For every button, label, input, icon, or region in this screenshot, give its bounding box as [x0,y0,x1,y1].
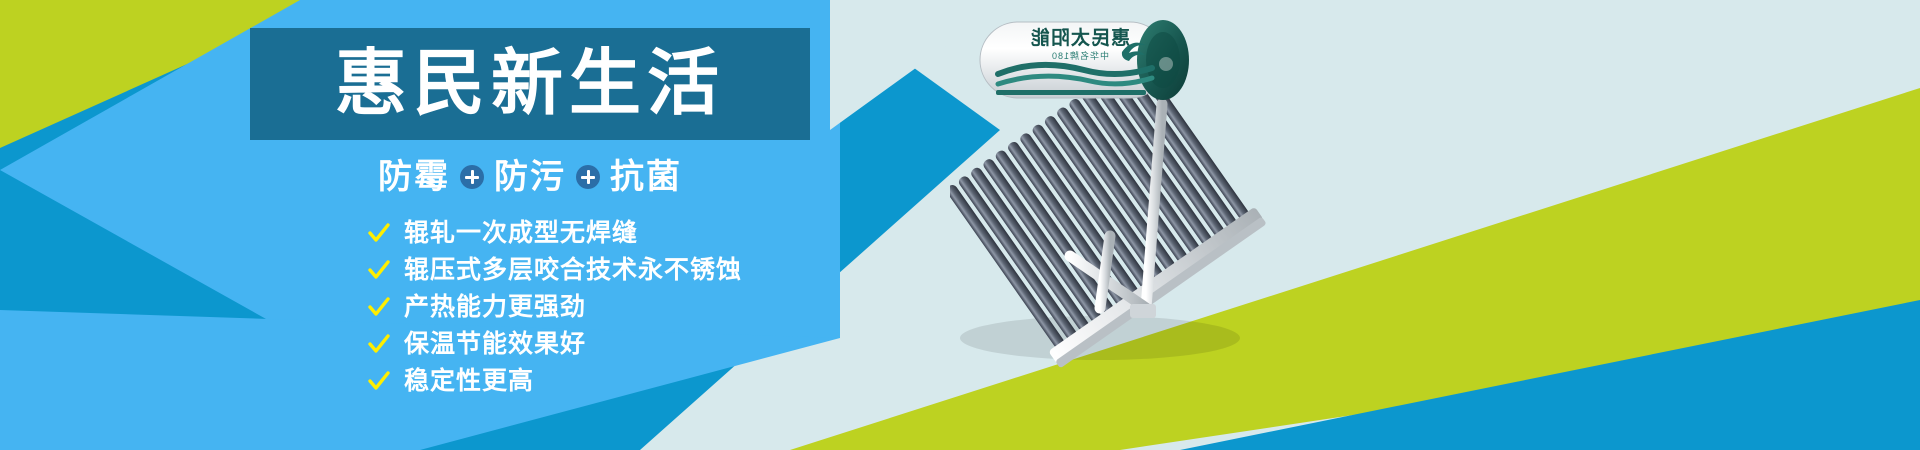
solar-water-heater-image: 惠民太阳能 中华名牌180 [950,8,1280,368]
tank: 惠民太阳能 中华名牌180 [980,20,1189,100]
tank-brand-primary: 惠民太阳能 [1030,26,1130,49]
list-item-label: 稳定性更高 [404,369,534,394]
page-title: 惠民新生活 [335,48,725,120]
list-item-label: 产热能力更强劲 [404,295,586,320]
list-item: 辊轧一次成型无焊缝 [368,218,850,248]
list-item: 保温节能效果好 [368,329,850,359]
promo-banner: 惠民太阳能 中华名牌180 惠民新生活 防霉 防污 抗菌 [0,0,1920,450]
list-item: 稳定性更高 [368,366,850,396]
plus-badge-icon [576,165,600,189]
list-item-label: 辊压式多层咬合技术永不锈蚀 [404,258,742,283]
list-item-label: 辊轧一次成型无焊缝 [404,221,638,246]
check-icon [368,296,390,318]
subtitle-word-2: 防污 [494,160,566,194]
subtitle-row: 防霉 防污 抗菌 [250,156,810,198]
title-bar: 惠民新生活 [250,28,810,140]
plus-badge-icon [460,165,484,189]
check-icon [368,222,390,244]
copy-block: 惠民新生活 防霉 防污 抗菌 辊轧一次成型无焊缝 辊压式多层咬合技术永不锈蚀 [250,28,850,388]
check-icon [368,333,390,355]
subtitle-word-3: 抗菌 [610,160,682,194]
tank-brand-secondary: 中华名牌180 [1051,50,1109,61]
list-item: 产热能力更强劲 [368,292,850,322]
list-item: 辊压式多层咬合技术永不锈蚀 [368,255,850,285]
list-item-label: 保温节能效果好 [404,332,586,357]
frame-foot [1130,304,1156,318]
subtitle-word-1: 防霉 [378,160,450,194]
feature-list: 辊轧一次成型无焊缝 辊压式多层咬合技术永不锈蚀 产热能力更强劲 保温节能效果好 [368,218,850,396]
check-icon [368,259,390,281]
check-icon [368,370,390,392]
